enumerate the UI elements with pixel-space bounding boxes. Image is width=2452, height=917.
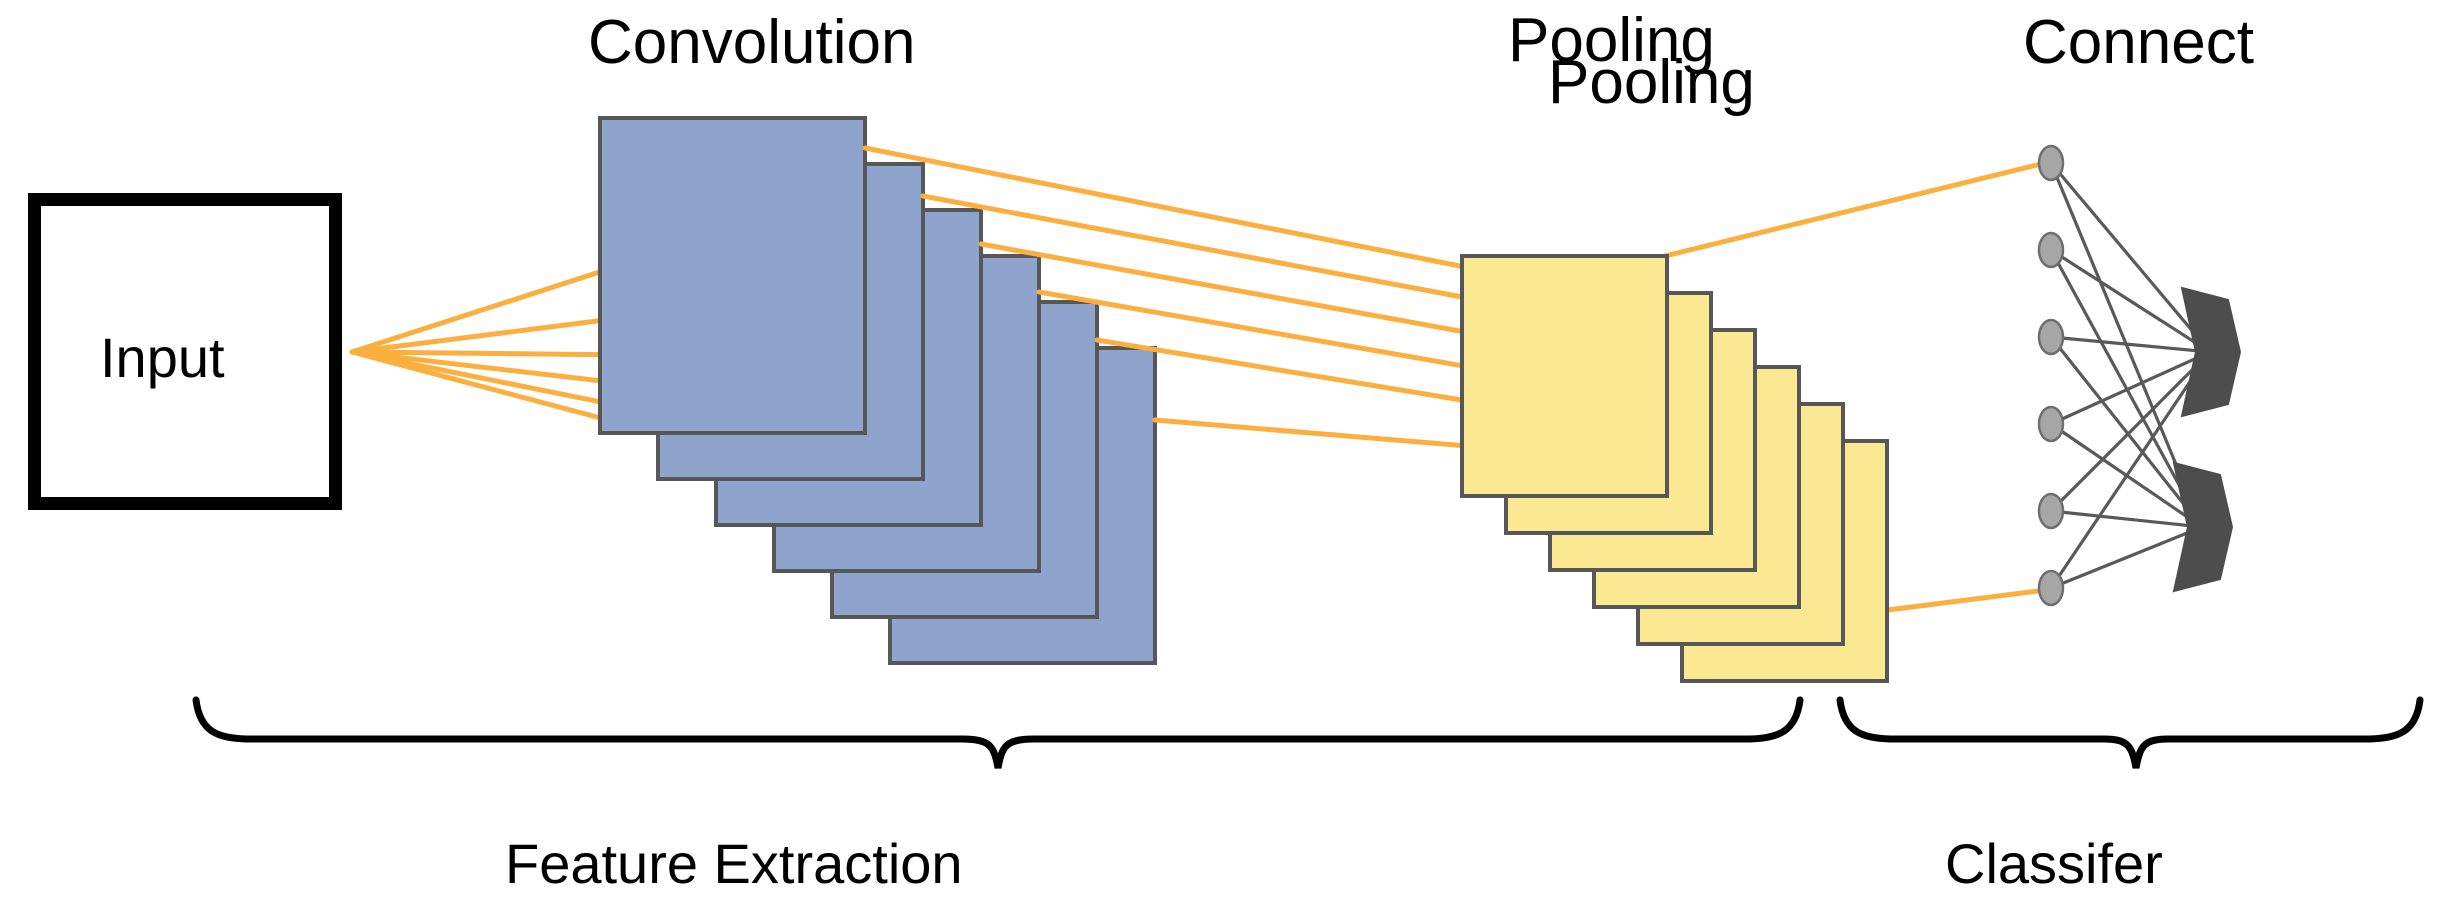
classifer-brace [1840,700,2420,768]
feature-extraction-label: Feature Extraction [505,836,963,892]
feature-extraction-brace [196,700,1800,768]
cnn-architecture-diagram: Input Convolution Pooling Pooling Connec… [0,0,2452,917]
braces-layer [0,0,2452,917]
classifer-label: Classifer [1945,836,2163,892]
